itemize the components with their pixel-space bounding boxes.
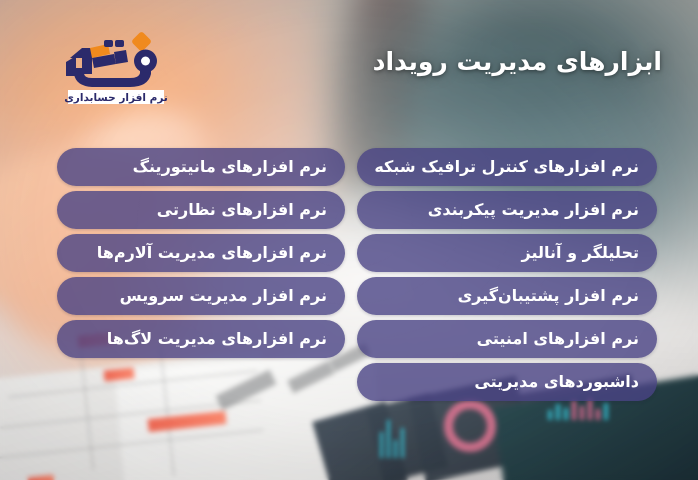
left-column: نرم افزارهای مانیتورینگ نرم افزارهای نظا…	[57, 148, 345, 358]
tool-pill-backup[interactable]: نرم افزار پشتیبان‌گیری	[357, 277, 657, 315]
tool-label: نرم افزارهای مدیریت لاگ‌ها	[73, 320, 327, 358]
tool-pill-log-management[interactable]: نرم افزارهای مدیریت لاگ‌ها	[57, 320, 345, 358]
tool-label: نرم افزار پشتیبان‌گیری	[373, 277, 639, 315]
tool-label: نرم افزارهای مانیتورینگ	[73, 148, 327, 186]
tool-pill-monitoring[interactable]: نرم افزارهای مانیتورینگ	[57, 148, 345, 186]
tool-pill-alarm-management[interactable]: نرم افزارهای مدیریت آلارم‌ها	[57, 234, 345, 272]
tool-label: داشبوردهای مدیریتی	[373, 363, 639, 401]
tool-label: نرم افزار مدیریت پیکربندی	[373, 191, 639, 229]
page-title: ابزارهای مدیریت رویداد	[242, 46, 662, 79]
tool-label: تحلیلگر و آنالیز	[373, 234, 639, 272]
logo-tagline-text: نرم افزار حسابداری	[64, 92, 168, 104]
tool-label: نرم افزارهای امنیتی	[373, 320, 639, 358]
tool-label: نرم افزارهای کنترل ترافیک شبکه	[373, 148, 639, 186]
tool-pill-service-management[interactable]: نرم افزار مدیریت سرویس	[57, 277, 345, 315]
tool-label: نرم افزارهای مدیریت آلارم‌ها	[73, 234, 327, 272]
tool-pill-management-dashboards[interactable]: داشبوردهای مدیریتی	[357, 363, 657, 401]
tool-label: نرم افزارهای نظارتی	[73, 191, 327, 229]
tool-pill-analyzer[interactable]: تحلیلگر و آنالیز	[357, 234, 657, 272]
infographic-poster: نرم افزار حسابداری ابزارهای مدیریت رویدا…	[0, 0, 698, 480]
tool-pill-supervisory[interactable]: نرم افزارهای نظارتی	[57, 191, 345, 229]
farda-logo-icon	[66, 31, 157, 87]
tool-pill-configuration-management[interactable]: نرم افزار مدیریت پیکربندی	[357, 191, 657, 229]
tool-pill-network-traffic-control[interactable]: نرم افزارهای کنترل ترافیک شبکه	[357, 148, 657, 186]
brand-logo[interactable]: نرم افزار حسابداری	[52, 30, 180, 106]
poster-content: نرم افزار حسابداری ابزارهای مدیریت رویدا…	[0, 0, 698, 480]
right-column: نرم افزارهای کنترل ترافیک شبکه نرم افزار…	[357, 148, 657, 401]
tool-label: نرم افزار مدیریت سرویس	[73, 277, 327, 315]
tool-pill-security[interactable]: نرم افزارهای امنیتی	[357, 320, 657, 358]
